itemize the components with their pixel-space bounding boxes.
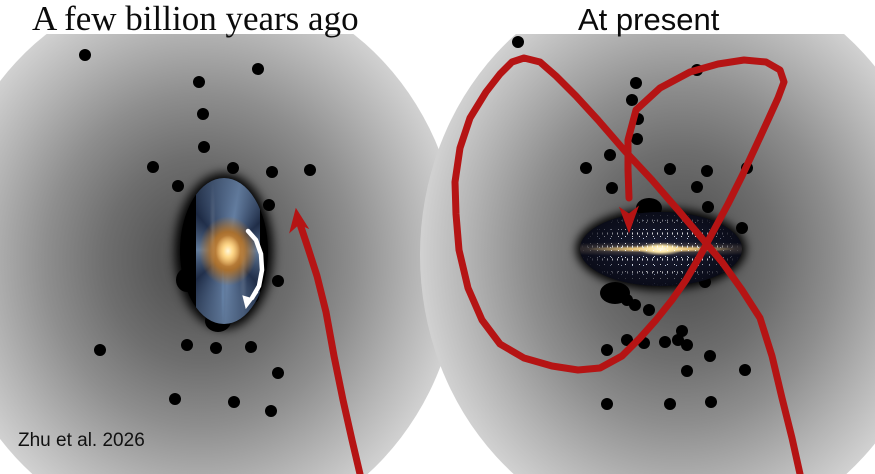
rotation-arrow-icon <box>248 231 262 298</box>
annotation-layer <box>0 0 875 474</box>
orbit-track-icon <box>455 58 800 474</box>
infall-arrowhead-right-icon <box>620 207 638 232</box>
rotation-arrowhead-icon <box>243 292 258 308</box>
figure-canvas: A few billion years ago At present Zhu e… <box>0 0 875 474</box>
infall-track-left-icon <box>300 224 360 474</box>
citation-credit: Zhu et al. 2026 <box>18 430 145 452</box>
